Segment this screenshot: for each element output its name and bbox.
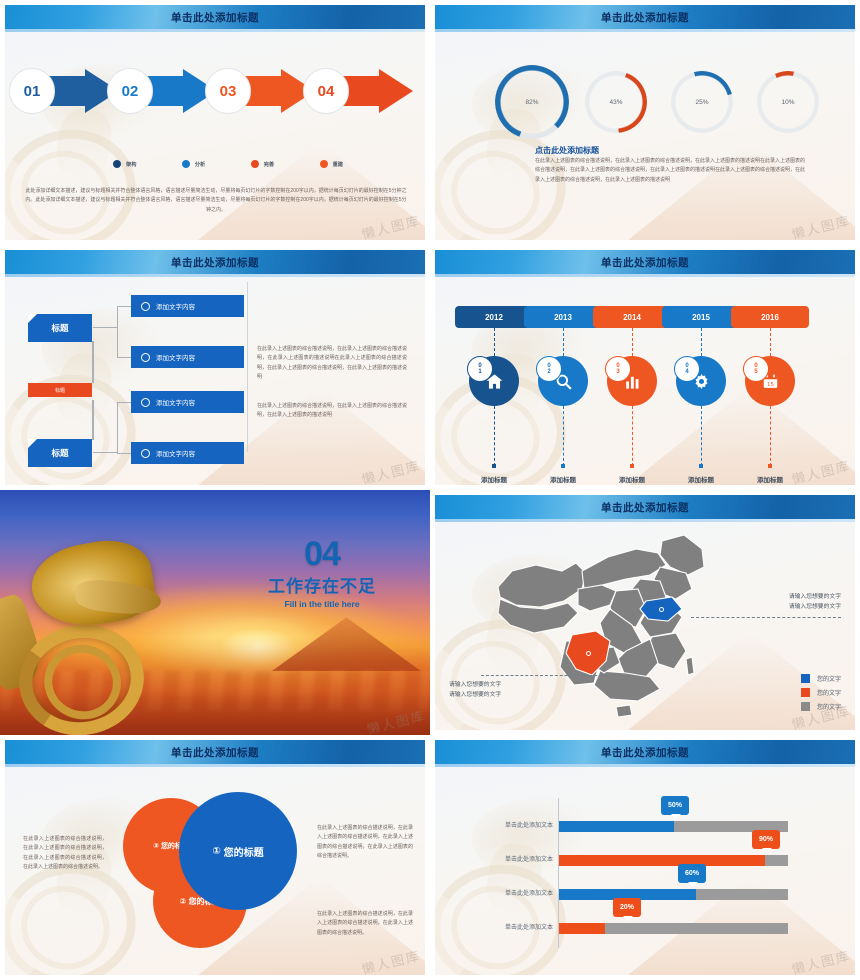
page-title: 单击此处添加标题	[601, 10, 689, 25]
timeline-endpoint	[699, 464, 703, 468]
timeline-connector	[770, 406, 771, 466]
legend-dot-icon	[251, 160, 259, 168]
callout-line-1: 请输入您想要的文字	[707, 593, 841, 603]
org-node-top[interactable]: 标题	[28, 314, 92, 342]
connector-line	[92, 341, 94, 383]
arrow-tip-icon	[379, 69, 413, 113]
bar-fill	[559, 923, 605, 934]
legend-label: 您的文字	[817, 702, 841, 711]
timeline-connector	[563, 328, 564, 356]
legend-dot-icon	[182, 160, 190, 168]
legend-swatch-icon	[801, 674, 810, 683]
org-item-1[interactable]: 添加文字内容	[131, 295, 244, 317]
timeline-step-3[interactable]: 2014 0 3	[593, 306, 671, 328]
caption-title: 添加标题	[455, 474, 533, 484]
slide-3[interactable]: 单击此处添加标题 标题 标题	[0, 245, 430, 490]
stock-watermark: 懒人图库	[360, 945, 423, 975]
venn-marker: ①	[212, 846, 220, 857]
legend-label: 完善	[264, 161, 274, 168]
slide-2[interactable]: 单击此处添加标题 82% 43% 25% 10%	[430, 0, 860, 245]
map-callout-left: 请输入您想要的文字 请输入您想要的文字	[449, 681, 569, 701]
legend-item[interactable]: 架构	[113, 160, 136, 168]
callout-line-2: 请输入您想要的文字	[707, 603, 841, 613]
org-item-label: 添加文字内容	[156, 301, 195, 311]
org-item-2[interactable]: 添加文字内容	[131, 346, 244, 368]
page-title: 单击此处添加标题	[171, 10, 259, 25]
timeline: 2012 0 1 添加标题 单	[435, 250, 855, 485]
org-item-label: 添加文字内容	[156, 397, 195, 407]
legend-swatch-icon	[801, 688, 810, 697]
donut-chart-3[interactable]: 25%	[671, 71, 733, 133]
org-node-label: 标题	[51, 322, 68, 334]
timeline-circle: 0 2	[538, 356, 588, 406]
org-node-bottom[interactable]: 标题	[28, 439, 92, 467]
bullet-circle-icon	[141, 398, 150, 407]
legend-label: 您的文字	[817, 674, 841, 683]
map-legend: 您的文字 您的文字 您的文字	[801, 674, 841, 716]
bar-fill	[559, 855, 765, 866]
body-paragraph-right-top: 在此录入上述图表的综合描述说明，在此录入上述图表的综合描述说明，在此录入上述图表…	[317, 824, 413, 861]
venn-marker: ②	[179, 897, 186, 906]
map-pin-orange[interactable]	[582, 647, 595, 660]
timeline-caption: 添加标题 单击此处添加副标题	[662, 474, 740, 485]
slide-8-canvas: 单击此处添加标题 50% 单击此处添加文本 90% 单击此处添加文本	[435, 740, 855, 975]
bar-value: 90%	[759, 836, 773, 843]
badge-digit-2: 1	[478, 369, 481, 375]
connector-line	[117, 357, 131, 358]
bar-fill	[559, 821, 674, 832]
donut-value: 82%	[525, 99, 538, 106]
corner-fold-icon	[28, 439, 37, 448]
timeline-circle: 15 0 5	[745, 356, 795, 406]
caption-title: 添加标题	[731, 474, 809, 484]
connector-line	[93, 327, 118, 328]
timeline-year: 2015	[662, 306, 740, 328]
slide-1-canvas: 单击此处添加标题 01 02 03	[5, 5, 425, 240]
map-callout-right: 请输入您想要的文字 请输入您想要的文字	[707, 593, 841, 613]
connector-line	[93, 452, 118, 453]
connector-line	[117, 453, 131, 454]
timeline-circle: 0 4	[676, 356, 726, 406]
slide-1[interactable]: 单击此处添加标题 01 02 03	[0, 0, 430, 245]
caption-title: 添加标题	[593, 474, 671, 484]
venn-label: 您的标题	[224, 844, 264, 859]
caption-title: 添加标题	[524, 474, 602, 484]
bar-row-1[interactable]: 单击此处添加文本	[435, 819, 855, 833]
donut-value: 10%	[781, 99, 794, 106]
venn-marker: ③	[153, 842, 159, 850]
timeline-badge: 0 4	[674, 356, 700, 382]
legend-label: 您的文字	[817, 688, 841, 697]
venn-circle-1[interactable]: ① 您的标题	[179, 792, 297, 910]
slide-4[interactable]: 单击此处添加标题 2012 0 1	[430, 245, 860, 490]
section-title-cn: 工作存在不足	[242, 572, 402, 597]
legend-item[interactable]: 您的文字	[801, 702, 841, 711]
svg-text:15: 15	[766, 381, 774, 387]
legend-dot-icon	[320, 160, 328, 168]
slide-deck: 单击此处添加标题 01 02 03	[0, 0, 860, 980]
bar-track	[559, 889, 788, 900]
callout-leader-line	[481, 675, 607, 676]
slide-7-title-bar: 单击此处添加标题	[5, 740, 425, 764]
timeline-caption: 添加标题 单击此处添加副标题	[524, 474, 602, 485]
vertical-divider	[247, 282, 248, 452]
bar-category-label: 单击此处添加文本	[447, 853, 553, 867]
connector-line	[117, 306, 118, 358]
timeline-connector	[701, 328, 702, 356]
bar-value-tag-4: 20%	[613, 898, 641, 917]
callout-line-2: 请输入您想要的文字	[449, 691, 569, 701]
timeline-caption: 添加标题 单击此处添加副标题	[731, 474, 809, 485]
legend-swatch-icon	[801, 702, 810, 711]
donut-chart-group: 82% 43% 25% 10%	[463, 63, 831, 141]
bar-value: 50%	[668, 802, 682, 809]
body-paragraph-2: 在此录入上述图表的综合描述说明，在此录入上述图表的综合描述说明，在此录入上述图表…	[257, 402, 407, 421]
slide-4-canvas: 单击此处添加标题 2012 0 1	[435, 250, 855, 485]
body-paragraph: 此处添加详细文本描述，建议与标题相关并符合整体语言风格，语言描述尽量简洁生动，尽…	[25, 187, 407, 215]
bullet-circle-icon	[141, 302, 150, 311]
legend-dot-icon	[113, 160, 121, 168]
connector-line	[117, 402, 131, 403]
page-title: 单击此处添加标题	[601, 500, 689, 515]
timeline-endpoint	[492, 464, 496, 468]
timeline-year: 2016	[731, 306, 809, 328]
slide-1-title-bar: 单击此处添加标题	[5, 5, 425, 29]
org-node-center[interactable]: 标题	[28, 383, 92, 397]
bar-category-label: 单击此处添加文本	[447, 819, 553, 833]
legend-label: 分析	[195, 161, 205, 168]
timeline-connector	[632, 406, 633, 466]
bar-category-label: 单击此处添加文本	[447, 921, 553, 935]
timeline-connector	[770, 328, 771, 356]
body-paragraph-1: 在此录入上述图表的综合描述说明，在此录入上述图表的综合描述说明，在此录入上述图表…	[257, 345, 407, 382]
corner-fold-icon	[28, 314, 37, 323]
legend-label: 重建	[333, 161, 343, 168]
timeline-endpoint	[768, 464, 772, 468]
page-title: 单击此处添加标题	[171, 745, 259, 760]
timeline-connector	[494, 328, 495, 356]
connector-line	[92, 400, 94, 440]
process-arrow-group: 01 02 03 04	[19, 65, 413, 117]
connector-line	[117, 306, 131, 307]
org-item-label: 添加文字内容	[156, 352, 195, 362]
map-pin-blue[interactable]	[655, 603, 668, 616]
bar-category-label: 单击此处添加文本	[447, 887, 553, 901]
timeline-step-1[interactable]: 2012 0 1 添加标题 单	[455, 306, 533, 328]
org-item-4[interactable]: 添加文字内容	[131, 442, 244, 464]
process-arrow-4[interactable]: 04	[313, 69, 425, 113]
slide-8[interactable]: 单击此处添加标题 50% 单击此处添加文本 90% 单击此处添加文本	[430, 735, 860, 980]
timeline-endpoint	[561, 464, 565, 468]
step-number: 04	[303, 68, 349, 114]
org-node-label: 标题	[51, 447, 68, 459]
timeline-badge: 0 2	[536, 356, 562, 382]
callout-leader-line	[691, 617, 841, 618]
stock-watermark: 懒人图库	[790, 210, 853, 240]
slide-7-canvas: 单击此处添加标题 ③ 您的标题 ② 您的标题 ① 您的标题 在此录入上述图表的综…	[5, 740, 425, 975]
donut-value: 25%	[695, 99, 708, 106]
legend-label: 架构	[126, 161, 136, 168]
body-paragraph-left: 在此录入上述图表的综合描述说明，在此录入上述图表的综合描述说明，在此录入上述图表…	[23, 835, 107, 872]
connector-line	[117, 402, 118, 454]
bar-row-4[interactable]: 单击此处添加文本	[435, 921, 855, 935]
donut-value: 43%	[609, 99, 622, 106]
bar-value-tag-3: 60%	[678, 864, 706, 883]
timeline-caption: 添加标题 单击此处添加副标题	[455, 474, 533, 485]
bar-row-2[interactable]: 单击此处添加文本	[435, 853, 855, 867]
body-paragraph-right-bottom: 在此录入上述图表的综合描述说明，在此录入上述图表的综合描述说明，在此录入上述图表…	[317, 910, 413, 938]
timeline-circle: 0 3	[607, 356, 657, 406]
bar-track	[559, 855, 788, 866]
timeline-year: 2013	[524, 306, 602, 328]
badge-digit-2: 2	[547, 369, 550, 375]
org-item-3[interactable]: 添加文字内容	[131, 391, 244, 413]
step-number: 01	[9, 68, 55, 114]
legend-item[interactable]: 完善	[251, 160, 274, 168]
bullet-circle-icon	[141, 353, 150, 362]
org-chart: 标题 标题 标题 添加文字内容 添加文字内容	[5, 250, 425, 485]
venn-diagram: ③ 您的标题 ② 您的标题 ① 您的标题	[123, 792, 313, 952]
section-number: 04	[242, 538, 402, 570]
body-paragraph: 在此录入上述图表的综合描述说明，在此录入上述图表的综合描述说明，在此录入上述图表…	[535, 157, 805, 185]
bar-value: 20%	[620, 904, 634, 911]
bullet-circle-icon	[141, 449, 150, 458]
slide-3-canvas: 单击此处添加标题 标题 标题	[5, 250, 425, 485]
timeline-year: 2012	[455, 306, 533, 328]
timeline-badge: 0 3	[605, 356, 631, 382]
slide-2-title-bar: 单击此处添加标题	[435, 5, 855, 29]
slide-5[interactable]: 04 工作存在不足 Fill in the title here 懒人图库	[0, 490, 430, 735]
section-cover: 04 工作存在不足 Fill in the title here 懒人图库	[0, 490, 430, 735]
donut-chart-1[interactable]: 82%	[495, 65, 569, 139]
legend-item[interactable]: 重建	[320, 160, 343, 168]
timeline-step-5[interactable]: 2016 15 0 5	[731, 306, 809, 328]
timeline-connector	[632, 328, 633, 356]
timeline-circle: 0 1	[469, 356, 519, 406]
timeline-badge: 0 5	[743, 356, 769, 382]
bar-value: 60%	[685, 870, 699, 877]
slide-7[interactable]: 单击此处添加标题 ③ 您的标题 ② 您的标题 ① 您的标题 在此录入上述图表的综…	[0, 735, 430, 980]
timeline-step-2[interactable]: 2013 0 2 添加标	[524, 306, 602, 328]
callout-line-1: 请输入您想要的文字	[449, 681, 569, 691]
bar-value-tag-2: 90%	[752, 830, 780, 849]
bar-value-tag-1: 50%	[661, 796, 689, 815]
slide-2-canvas: 单击此处添加标题 82% 43% 25% 10%	[435, 5, 855, 240]
dragon-statue-image	[0, 539, 189, 735]
step-number: 03	[205, 68, 251, 114]
legend-item[interactable]: 分析	[182, 160, 205, 168]
badge-digit-2: 3	[616, 369, 619, 375]
timeline-caption: 添加标题 单击此处添加副标题	[593, 474, 671, 485]
timeline-step-4[interactable]: 2015 0 4 添加标	[662, 306, 740, 328]
badge-digit-2: 5	[754, 369, 757, 375]
donut-chart-4[interactable]: 10%	[757, 71, 819, 133]
timeline-year: 2014	[593, 306, 671, 328]
legend-item[interactable]: 您的文字	[801, 674, 841, 683]
org-node-label: 标题	[55, 387, 65, 394]
timeline-badge: 0 1	[467, 356, 493, 382]
step-number: 02	[107, 68, 153, 114]
timeline-endpoint	[630, 464, 634, 468]
timeline-connector	[701, 406, 702, 466]
timeline-connector	[494, 406, 495, 466]
badge-digit-2: 4	[685, 369, 688, 375]
slide-6-title-bar: 单击此处添加标题	[435, 495, 855, 519]
slide-6[interactable]: 单击此处添加标题	[430, 490, 860, 735]
slide-6-canvas: 单击此处添加标题	[435, 495, 855, 730]
legend: 架构 分析 完善 重建	[113, 160, 343, 168]
cover-text-block: 04 工作存在不足 Fill in the title here	[242, 538, 402, 609]
bar-chart: 50% 单击此处添加文本 90% 单击此处添加文本	[435, 740, 855, 975]
bar-row-3[interactable]: 单击此处添加文本	[435, 887, 855, 901]
section-subtitle: 点击此处添加标题	[535, 145, 599, 156]
org-item-label: 添加文字内容	[156, 448, 195, 458]
caption-title: 添加标题	[662, 474, 740, 484]
timeline-connector	[563, 406, 564, 466]
section-title-en: Fill in the title here	[242, 599, 402, 609]
bar-track	[559, 923, 788, 934]
legend-item[interactable]: 您的文字	[801, 688, 841, 697]
donut-chart-2[interactable]: 43%	[585, 71, 647, 133]
